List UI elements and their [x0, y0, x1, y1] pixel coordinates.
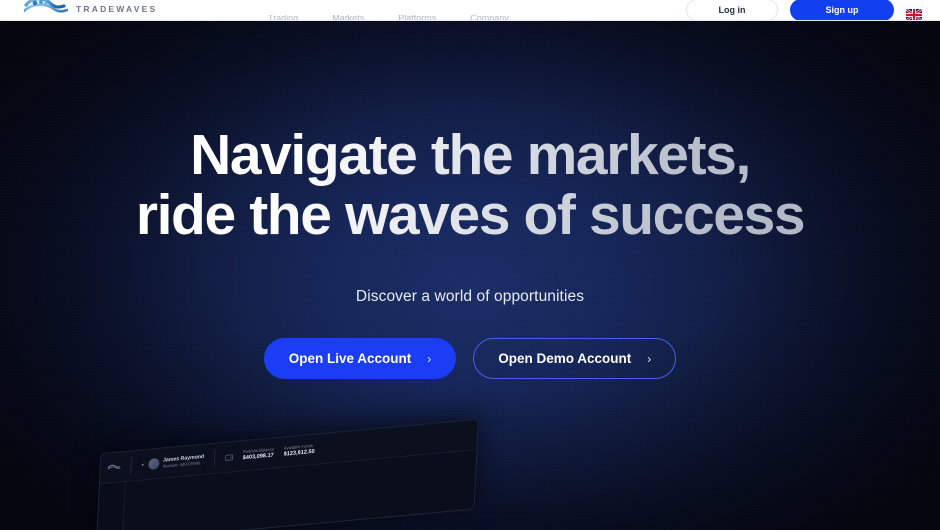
nav-item-platforms[interactable]: Platforms	[398, 15, 436, 21]
stat-portfolio-balance: Portfolio Balance $403,098.17	[243, 447, 275, 463]
page-title: Navigate the markets, ride the waves of …	[0, 125, 940, 245]
site-header: TRADEWAVES Trading Markets Platforms Com…	[0, 0, 940, 21]
wallet-icon	[225, 453, 233, 462]
dashboard-user[interactable]: ▾ James Raymond Account: 44021WWL	[141, 453, 204, 471]
header-actions: Log in Sign up	[686, 0, 922, 21]
uk-flag-icon[interactable]	[906, 9, 922, 21]
divider	[130, 457, 132, 474]
signup-button[interactable]: Sign up	[790, 0, 894, 21]
brand-logo[interactable]: TRADEWAVES	[24, 0, 157, 18]
open-demo-account-label: Open Demo Account	[498, 351, 631, 366]
login-button[interactable]: Log in	[686, 0, 778, 21]
hero-section: Navigate the markets, ride the waves of …	[0, 21, 940, 530]
primary-nav: Trading Markets Platforms Company	[268, 15, 509, 21]
hero-cta-row: Open Live Account › Open Demo Account ›	[0, 338, 940, 379]
nav-item-markets[interactable]: Markets	[332, 15, 364, 21]
dashboard-sidebar	[97, 482, 126, 530]
wave-logo-icon	[107, 461, 120, 473]
stat-available-funds: Available Funds $123,912.50	[283, 443, 315, 459]
nav-item-trading[interactable]: Trading	[268, 15, 298, 21]
avatar	[148, 458, 159, 470]
chevron-right-icon: ›	[427, 352, 431, 366]
wave-logo-icon	[24, 0, 68, 18]
nav-item-company[interactable]: Company	[470, 15, 509, 21]
chevron-down-icon: ▾	[141, 462, 144, 468]
brand-name: TRADEWAVES	[76, 4, 157, 18]
hero-subtitle: Discover a world of opportunities	[0, 288, 940, 306]
divider	[214, 450, 216, 467]
open-live-account-label: Open Live Account	[289, 351, 412, 366]
chevron-right-icon: ›	[647, 352, 651, 366]
open-demo-account-button[interactable]: Open Demo Account ›	[473, 338, 676, 379]
open-live-account-button[interactable]: Open Live Account ›	[264, 338, 457, 379]
